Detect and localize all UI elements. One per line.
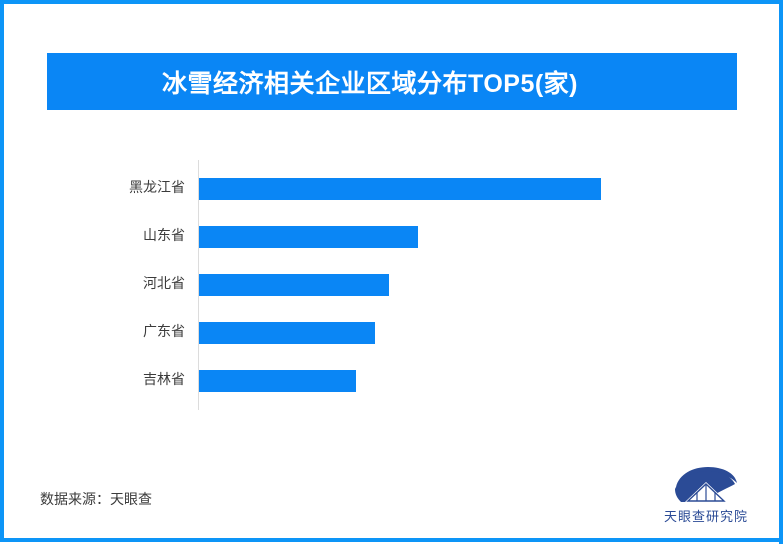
bar-category-label: 吉林省 (0, 368, 185, 390)
bar-row: 河北省 (0, 274, 783, 296)
title-banner: 冰雪经济相关企业区域分布TOP5(家) (47, 53, 737, 110)
bar-rect (199, 274, 389, 296)
frame-bottom-strip (4, 538, 783, 542)
brand-logo-text: 天眼查研究院 (664, 506, 748, 525)
chart-page: 冰雪经济相关企业区域分布TOP5(家) 黑龙江省山东省河北省广东省吉林省 数据来… (0, 0, 783, 544)
bar-row: 山东省 (0, 226, 783, 248)
bar-row: 黑龙江省 (0, 178, 783, 200)
bar-row: 吉林省 (0, 370, 783, 392)
bar-category-label: 河北省 (0, 272, 185, 294)
bar-rect (199, 370, 356, 392)
frame-top-strip (4, 0, 783, 4)
bar-chart: 黑龙江省山东省河北省广东省吉林省 (0, 150, 783, 405)
data-source-label: 数据来源：天眼查 (40, 489, 152, 509)
bar-category-label: 黑龙江省 (0, 176, 185, 198)
bar-rect (199, 178, 601, 200)
bar-rect (199, 322, 375, 344)
bar-category-label: 山东省 (0, 224, 185, 246)
bar-row: 广东省 (0, 322, 783, 344)
brand-logo: 天眼查研究院 (664, 466, 748, 528)
tianyancha-eye-mountain-icon (673, 466, 739, 504)
bar-rect (199, 226, 418, 248)
page-title: 冰雪经济相关企业区域分布TOP5(家) (162, 64, 578, 100)
bar-category-label: 广东省 (0, 320, 185, 342)
